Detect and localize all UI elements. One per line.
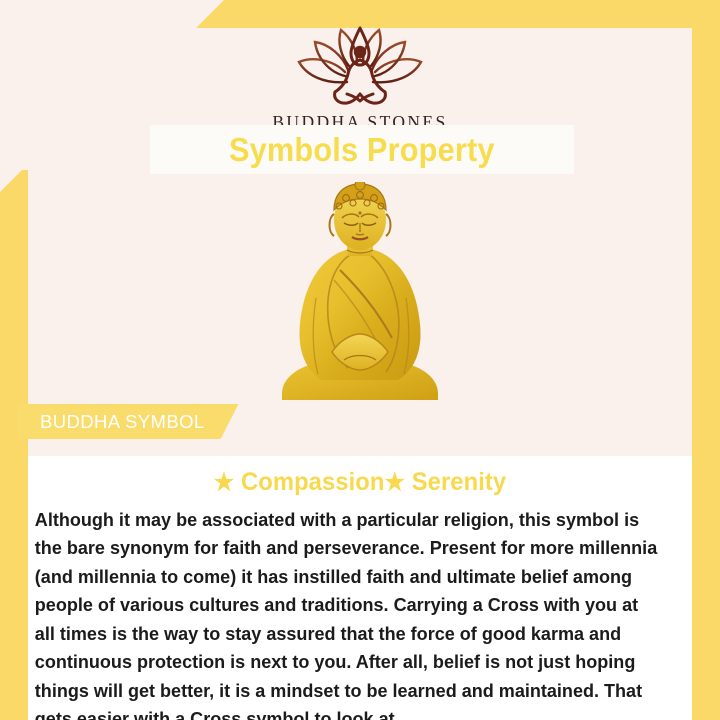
hero-tag-label: BUDDHA SYMBOL	[40, 411, 205, 433]
subheading-word-serenity: Serenity	[412, 468, 506, 496]
content-body-text: Although it may be associated with a par…	[28, 506, 672, 720]
poster-canvas: BUDDHA STONES Symbols Property	[0, 0, 720, 720]
title-banner: Symbols Property	[150, 125, 574, 174]
page-title: Symbols Property	[229, 131, 495, 169]
star-icon-left: ★	[214, 469, 235, 496]
golden-seated-buddha-statue-icon	[260, 182, 460, 404]
content-subheading: ★ Compassion★ Serenity	[45, 468, 676, 497]
hero-image	[0, 182, 720, 409]
brand-logo: BUDDHA STONES	[0, 22, 720, 133]
star-icon-right: ★	[384, 469, 405, 496]
hero-tag: BUDDHA SYMBOL	[18, 404, 239, 439]
subheading-word-compassion: Compassion	[241, 468, 384, 496]
content-panel: ★ Compassion★ Serenity Although it may b…	[28, 456, 692, 720]
lotus-meditation-icon	[285, 22, 435, 108]
